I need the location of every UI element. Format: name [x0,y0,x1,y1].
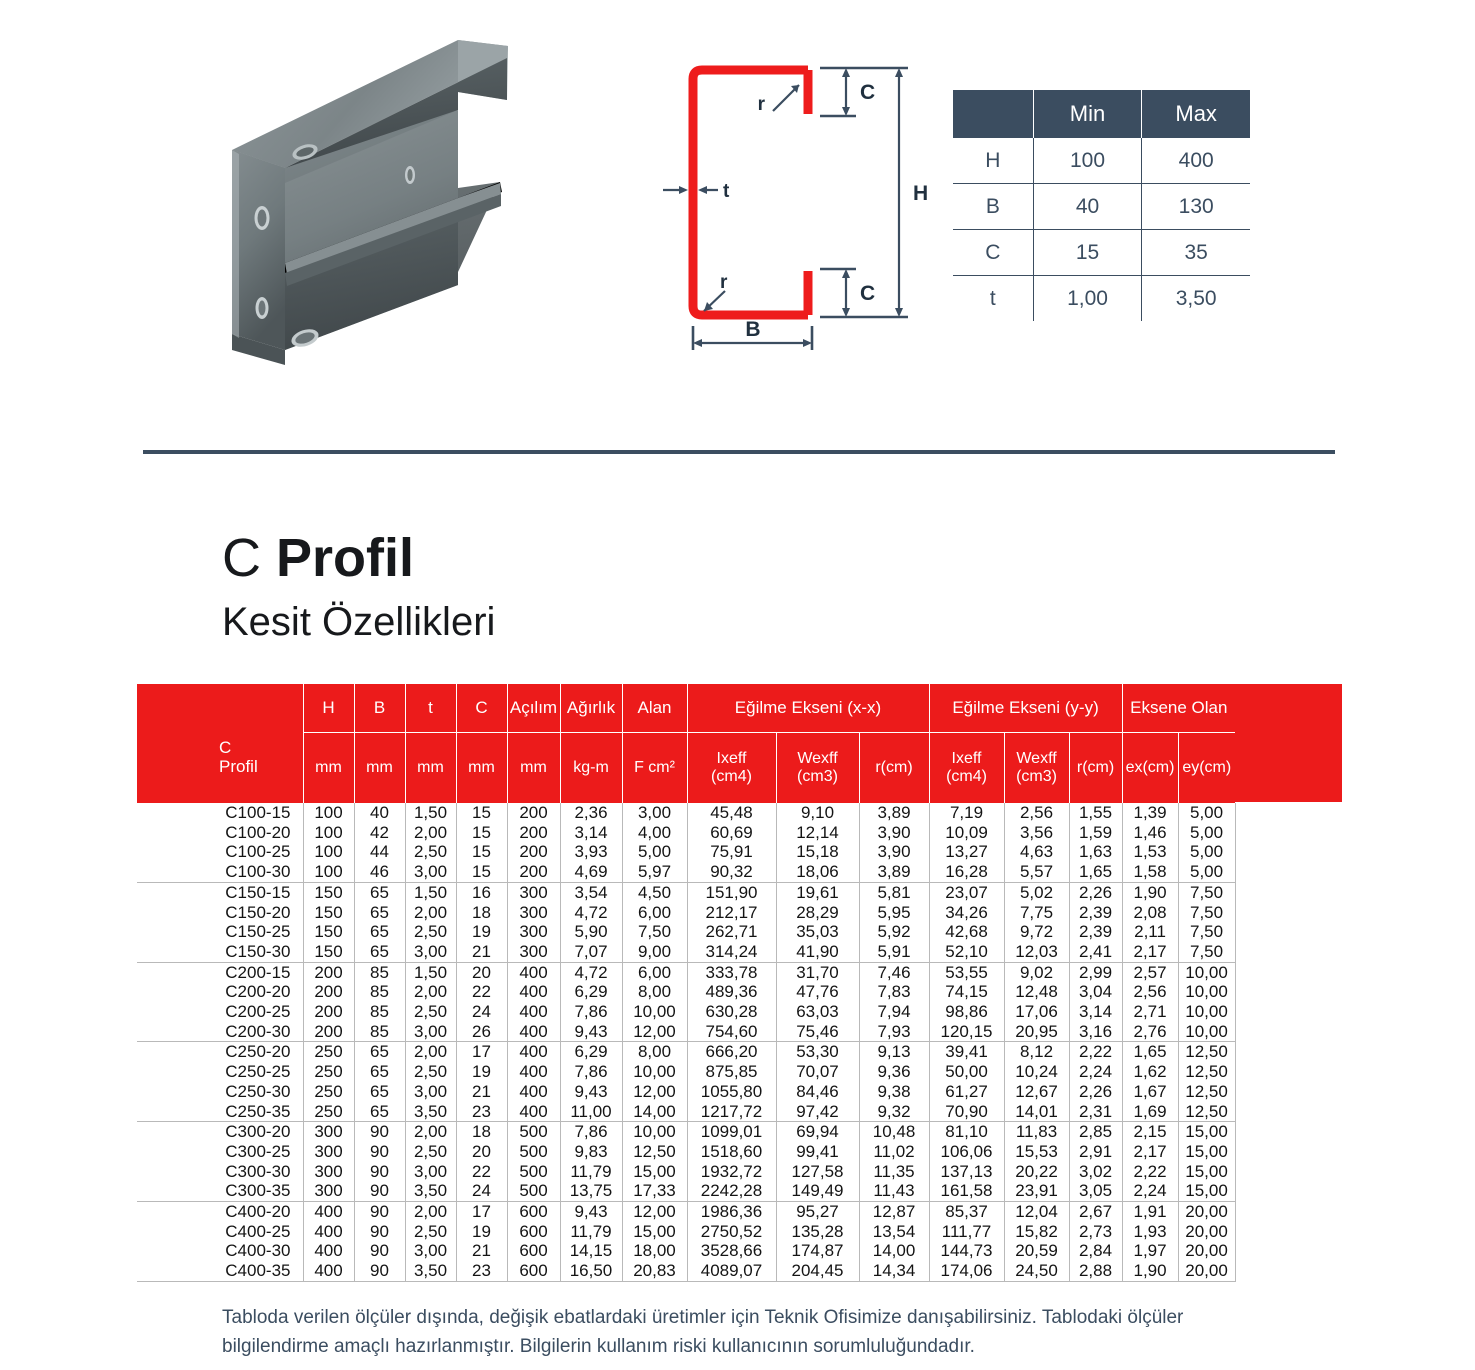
cell-value: 1,50 [405,962,456,982]
cell-value: 5,97 [622,862,687,882]
cell-value: 400 [507,1102,560,1122]
table-row: C100-25100442,50152003,935,0075,9115,183… [137,842,1235,862]
minmax-header-min: Min [1033,90,1142,138]
col-header-alan: Alan [622,684,687,733]
cell-value: 53,30 [776,1042,859,1062]
cell-value: 400 [303,1241,354,1261]
cell-value: 9,43 [560,1082,622,1102]
cell-value: 200 [507,862,560,882]
cell-value: 2,76 [1122,1022,1178,1042]
minmax-label-t: t [953,276,1033,322]
cell-value: 2,00 [405,982,456,1002]
unit-header-ixeff-yy-l2: (cm4) [946,768,987,785]
table-head: C Profil H B t C Açılım Ağırlık Alan Eği… [137,684,1235,803]
cell-value: 3,54 [560,882,622,902]
cell-value: 400 [507,1002,560,1022]
unit-header-acilim: mm [507,733,560,804]
cell-value: 14,00 [859,1241,929,1261]
table-row: C300-20300902,00185007,8610,001099,0169,… [137,1122,1235,1142]
col-header-t: t [405,684,456,733]
cell-value: 40 [354,803,405,823]
cell-value: 1,63 [1069,842,1122,862]
cell-value: 12,48 [1004,982,1069,1002]
cell-value: 7,50 [622,922,687,942]
cell-value: 15,18 [776,842,859,862]
cell-value: 3,50 [405,1181,456,1201]
unit-header-ixeff-xx-l1: Ixeff [717,750,747,767]
cell-value: 2,50 [405,1002,456,1022]
cell-profile-name: C250-25 [137,1062,303,1082]
cell-value: 4,69 [560,862,622,882]
cell-value: 300 [303,1142,354,1162]
cell-value: 44 [354,842,405,862]
page-subtitle: Kesit Özellikleri [222,600,495,645]
cell-value: 2,41 [1069,942,1122,962]
cell-value: 20 [456,962,507,982]
table-row: C150-15150651,50163003,544,50151,9019,61… [137,882,1235,902]
cell-value: 2,85 [1069,1122,1122,1142]
cell-value: 5,00 [1178,803,1235,823]
cell-value: 6,29 [560,1042,622,1062]
cell-value: 12,87 [859,1202,929,1222]
cell-value: 3,50 [405,1102,456,1122]
cell-profile-name: C250-35 [137,1102,303,1122]
cell-value: 95,27 [776,1202,859,1222]
radius-label-bottom: r [720,272,728,293]
cell-value: 1217,72 [687,1102,776,1122]
cell-value: 20,00 [1178,1222,1235,1242]
cell-value: 3,90 [859,823,929,843]
cell-value: 300 [303,1162,354,1182]
col-header-profile-line2: Profil [219,757,258,776]
cell-value: 7,83 [859,982,929,1002]
cell-value: 12,00 [622,1082,687,1102]
cell-value: 3528,66 [687,1241,776,1261]
cell-value: 9,32 [859,1102,929,1122]
cell-value: 61,27 [929,1082,1004,1102]
cell-value: 2,31 [1069,1102,1122,1122]
cell-value: 1,50 [405,803,456,823]
col-header-b: B [354,684,405,733]
cell-value: 14,01 [1004,1102,1069,1122]
cell-value: 9,38 [859,1082,929,1102]
cell-value: 300 [507,922,560,942]
unit-header-ixeff-xx: Ixeff (cm4) [687,733,776,804]
cell-value: 9,10 [776,803,859,823]
cell-value: 200 [303,1002,354,1022]
cell-value: 65 [354,1102,405,1122]
cell-value: 17 [456,1202,507,1222]
cell-profile-name: C100-25 [137,842,303,862]
cell-value: 90 [354,1202,405,1222]
cell-value: 2,26 [1069,882,1122,902]
cell-value: 69,94 [776,1122,859,1142]
cell-value: 15 [456,842,507,862]
cell-value: 65 [354,903,405,923]
cell-value: 300 [507,903,560,923]
cell-value: 1,46 [1122,823,1178,843]
unit-header-c: mm [456,733,507,804]
cell-value: 2,67 [1069,1202,1122,1222]
table-row: C400-30400903,002160014,1518,003528,6617… [137,1241,1235,1261]
cell-value: 3,00 [622,803,687,823]
unit-header-wexff-xx: Wexff (cm3) [776,733,859,804]
cell-value: 5,00 [622,842,687,862]
cell-value: 666,20 [687,1042,776,1062]
cell-value: 9,36 [859,1062,929,1082]
cell-value: 400 [507,1022,560,1042]
cell-value: 100 [303,803,354,823]
cell-value: 26 [456,1022,507,1042]
cell-value: 18,00 [622,1241,687,1261]
cell-value: 111,77 [929,1222,1004,1242]
minmax-header-blank [953,90,1033,138]
cell-value: 12,50 [622,1142,687,1162]
cell-profile-name: C250-20 [137,1042,303,1062]
top-section: r r t C [0,0,1475,430]
cell-value: 98,86 [929,1002,1004,1022]
cell-profile-name: C400-20 [137,1202,303,1222]
cell-value: 34,26 [929,903,1004,923]
cell-profile-name: C400-35 [137,1261,303,1281]
cell-value: 19 [456,1062,507,1082]
cell-value: 10,00 [622,1122,687,1142]
cell-value: 22 [456,1162,507,1182]
cell-value: 2,00 [405,1042,456,1062]
col-header-c: C [456,684,507,733]
cell-value: 500 [507,1162,560,1182]
cell-value: 174,87 [776,1241,859,1261]
cell-value: 2,56 [1004,803,1069,823]
cell-value: 20,00 [1178,1202,1235,1222]
cell-value: 2,00 [405,903,456,923]
page-title-light: C [222,528,261,588]
cell-value: 85,37 [929,1202,1004,1222]
cell-value: 18,06 [776,862,859,882]
cell-value: 5,91 [859,942,929,962]
unit-header-b: mm [354,733,405,804]
cell-value: 12,04 [1004,1202,1069,1222]
cell-value: 1,90 [1122,1261,1178,1281]
minmax-min-t: 1,00 [1033,276,1142,322]
cell-value: 19 [456,1222,507,1242]
cell-value: 600 [507,1261,560,1281]
cell-value: 1,67 [1122,1082,1178,1102]
c-label-bottom: C [860,282,875,305]
cell-value: 250 [303,1102,354,1122]
table-row: C250-35250653,502340011,0014,001217,7297… [137,1102,1235,1122]
cell-value: 1,59 [1069,823,1122,843]
cell-value: 39,41 [929,1042,1004,1062]
unit-header-wexff-yy: Wexff (cm3) [1004,733,1069,804]
cell-value: 7,50 [1178,942,1235,962]
cell-value: 41,90 [776,942,859,962]
cell-value: 7,93 [859,1022,929,1042]
cell-value: 12,00 [622,1202,687,1222]
cell-value: 99,41 [776,1142,859,1162]
cell-value: 2,24 [1069,1062,1122,1082]
cell-value: 10,09 [929,823,1004,843]
cell-value: 12,50 [1178,1102,1235,1122]
minmax-min-b: 40 [1033,184,1142,230]
cell-value: 3,50 [405,1261,456,1281]
cell-value: 2,11 [1122,922,1178,942]
cell-value: 2,15 [1122,1122,1178,1142]
col-header-h: H [303,684,354,733]
table-row: C100-15100401,50152002,363,0045,489,103,… [137,803,1235,823]
cell-value: 85 [354,982,405,1002]
table-row: C400-35400903,502360016,5020,834089,0720… [137,1261,1235,1281]
cell-profile-name: C300-20 [137,1122,303,1142]
cross-section-diagram: r r t C [660,48,950,353]
cell-value: 3,00 [405,1022,456,1042]
cell-value: 5,90 [560,922,622,942]
cell-value: 90 [354,1241,405,1261]
cell-value: 75,91 [687,842,776,862]
cell-value: 90,32 [687,862,776,882]
cell-value: 300 [303,1122,354,1142]
cell-value: 20,00 [1178,1261,1235,1281]
cell-value: 7,94 [859,1002,929,1022]
cell-value: 630,28 [687,1002,776,1022]
cell-value: 23,91 [1004,1181,1069,1201]
cell-value: 333,78 [687,962,776,982]
cell-value: 23 [456,1102,507,1122]
cell-value: 135,28 [776,1222,859,1242]
cell-value: 9,43 [560,1202,622,1222]
cell-value: 19 [456,922,507,942]
cell-value: 3,14 [560,823,622,843]
c-channel-illustration [205,20,545,370]
cell-value: 9,13 [859,1042,929,1062]
cell-value: 1,53 [1122,842,1178,862]
cell-value: 3,05 [1069,1181,1122,1201]
cell-value: 400 [507,1062,560,1082]
cell-value: 1,69 [1122,1102,1178,1122]
cell-value: 3,00 [405,942,456,962]
unit-header-r-yy: r(cm) [1069,733,1122,804]
cell-value: 4,72 [560,962,622,982]
section-divider [143,450,1335,454]
cell-value: 15,00 [1178,1181,1235,1201]
cell-value: 7,46 [859,962,929,982]
minmax-min-c: 15 [1033,230,1142,276]
cell-value: 23 [456,1261,507,1281]
cell-value: 24 [456,1181,507,1201]
cell-value: 600 [507,1222,560,1242]
thickness-label: t [723,181,730,202]
minmax-label-b: B [953,184,1033,230]
cell-value: 12,50 [1178,1082,1235,1102]
cell-value: 35,03 [776,922,859,942]
cell-value: 6,29 [560,982,622,1002]
cell-value: 47,76 [776,982,859,1002]
h-label: H [913,182,928,205]
cell-value: 1518,60 [687,1142,776,1162]
page-title-bold: Profil [276,528,414,588]
cell-value: 300 [303,1181,354,1201]
cell-value: 500 [507,1181,560,1201]
minmax-label-c: C [953,230,1033,276]
minmax-label-h: H [953,138,1033,184]
cell-value: 65 [354,922,405,942]
cell-value: 1,93 [1122,1222,1178,1242]
unit-header-agirlik: kg-m [560,733,622,804]
cell-value: 84,46 [776,1082,859,1102]
table-row: C150-20150652,00183004,726,00212,1728,29… [137,903,1235,923]
cell-value: 1,58 [1122,862,1178,882]
cell-value: 2750,52 [687,1222,776,1242]
table-row: C400-25400902,501960011,7915,002750,5213… [137,1222,1235,1242]
cell-value: 90 [354,1142,405,1162]
cell-value: 20,22 [1004,1162,1069,1182]
cell-value: 2,22 [1122,1162,1178,1182]
table-row: C250-25250652,50194007,8610,00875,8570,0… [137,1062,1235,1082]
cell-value: 200 [303,1022,354,1042]
table-row: C100-20100422,00152003,144,0060,6912,143… [137,823,1235,843]
table-row: C300-25300902,50205009,8312,501518,6099,… [137,1142,1235,1162]
cell-value: 2,08 [1122,903,1178,923]
cell-value: 4,72 [560,903,622,923]
cell-value: 4089,07 [687,1261,776,1281]
unit-header-ey: ey(cm) [1178,733,1235,804]
cell-value: 11,79 [560,1162,622,1182]
cell-profile-name: C100-30 [137,862,303,882]
cell-value: 7,19 [929,803,1004,823]
cell-value: 7,86 [560,1002,622,1022]
cell-value: 3,89 [859,803,929,823]
cell-profile-name: C200-15 [137,962,303,982]
cell-value: 400 [303,1222,354,1242]
cell-value: 2,36 [560,803,622,823]
unit-header-h: mm [303,733,354,804]
cell-value: 400 [303,1261,354,1281]
cell-value: 23,07 [929,882,1004,902]
cell-value: 5,00 [1178,823,1235,843]
cell-value: 875,85 [687,1062,776,1082]
cell-value: 1055,80 [687,1082,776,1102]
cell-value: 2,73 [1069,1222,1122,1242]
cell-value: 400 [507,1082,560,1102]
cell-value: 8,00 [622,982,687,1002]
cell-value: 754,60 [687,1022,776,1042]
cell-value: 3,04 [1069,982,1122,1002]
cell-value: 5,02 [1004,882,1069,902]
cell-value: 12,50 [1178,1042,1235,1062]
cell-value: 7,50 [1178,922,1235,942]
cell-value: 150 [303,922,354,942]
cell-value: 200 [507,842,560,862]
cell-value: 2242,28 [687,1181,776,1201]
cell-value: 9,02 [1004,962,1069,982]
cell-profile-name: C100-20 [137,823,303,843]
cell-value: 15,53 [1004,1142,1069,1162]
cell-value: 149,49 [776,1181,859,1201]
cell-value: 127,58 [776,1162,859,1182]
cell-value: 15,00 [622,1162,687,1182]
cell-value: 5,81 [859,882,929,902]
cell-value: 2,22 [1069,1042,1122,1062]
minmax-max-b: 130 [1142,184,1250,230]
cell-value: 65 [354,942,405,962]
cell-value: 28,29 [776,903,859,923]
cell-value: 7,07 [560,942,622,962]
cell-value: 151,90 [687,882,776,902]
unit-header-alan: F cm² [622,733,687,804]
cell-value: 3,14 [1069,1002,1122,1022]
cell-value: 70,07 [776,1062,859,1082]
cell-profile-name: C300-25 [137,1142,303,1162]
cell-value: 7,50 [1178,882,1235,902]
cell-value: 85 [354,962,405,982]
cell-value: 3,00 [405,1082,456,1102]
cell-value: 13,54 [859,1222,929,1242]
section-properties-table: C Profil H B t C Açılım Ağırlık Alan Eği… [137,684,1236,1282]
profile-section-drawing: r r t C [660,48,950,353]
cell-value: 65 [354,1042,405,1062]
minmax-header-max: Max [1142,90,1250,138]
page-title: C Profil [222,527,414,589]
cell-value: 21 [456,1241,507,1261]
cell-value: 500 [507,1122,560,1142]
cell-value: 2,50 [405,1222,456,1242]
cell-profile-name: C150-30 [137,942,303,962]
cell-profile-name: C300-30 [137,1162,303,1182]
cell-value: 81,10 [929,1122,1004,1142]
cell-value: 250 [303,1082,354,1102]
b-label: B [745,318,760,341]
cell-value: 16 [456,882,507,902]
c-label-top: C [860,81,875,104]
cell-value: 12,14 [776,823,859,843]
table-group-header-row: C Profil H B t C Açılım Ağırlık Alan Eği… [137,684,1235,733]
cell-value: 120,15 [929,1022,1004,1042]
cell-value: 1,65 [1069,862,1122,882]
cell-value: 144,73 [929,1241,1004,1261]
cell-value: 2,57 [1122,962,1178,982]
cell-value: 15 [456,803,507,823]
cell-value: 65 [354,1082,405,1102]
cell-value: 600 [507,1202,560,1222]
cell-value: 13,75 [560,1181,622,1201]
section-properties-table-wrapper: C Profil H B t C Açılım Ağırlık Alan Eği… [137,684,1342,1282]
cell-value: 10,00 [622,1062,687,1082]
cell-value: 90 [354,1222,405,1242]
cell-value: 3,90 [859,842,929,862]
cell-value: 12,00 [622,1022,687,1042]
cell-value: 3,93 [560,842,622,862]
cell-profile-name: C400-30 [137,1241,303,1261]
table-row: C400-20400902,00176009,4312,001986,3695,… [137,1202,1235,1222]
cell-value: 2,24 [1122,1181,1178,1201]
cell-value: 400 [303,1202,354,1222]
cell-value: 6,00 [622,903,687,923]
cell-value: 204,45 [776,1261,859,1281]
unit-header-r-xx: r(cm) [859,733,929,804]
cell-value: 500 [507,1142,560,1162]
cell-value: 3,02 [1069,1162,1122,1182]
cell-value: 300 [507,942,560,962]
table-row: C150-30150653,00213007,079,00314,2441,90… [137,942,1235,962]
cell-value: 2,00 [405,1202,456,1222]
cell-value: 45,48 [687,803,776,823]
unit-header-wexff-xx-l2: (cm3) [797,768,838,785]
cell-value: 2,91 [1069,1142,1122,1162]
cell-value: 3,89 [859,862,929,882]
cell-value: 300 [507,882,560,902]
cell-value: 2,56 [1122,982,1178,1002]
cell-value: 12,67 [1004,1082,1069,1102]
